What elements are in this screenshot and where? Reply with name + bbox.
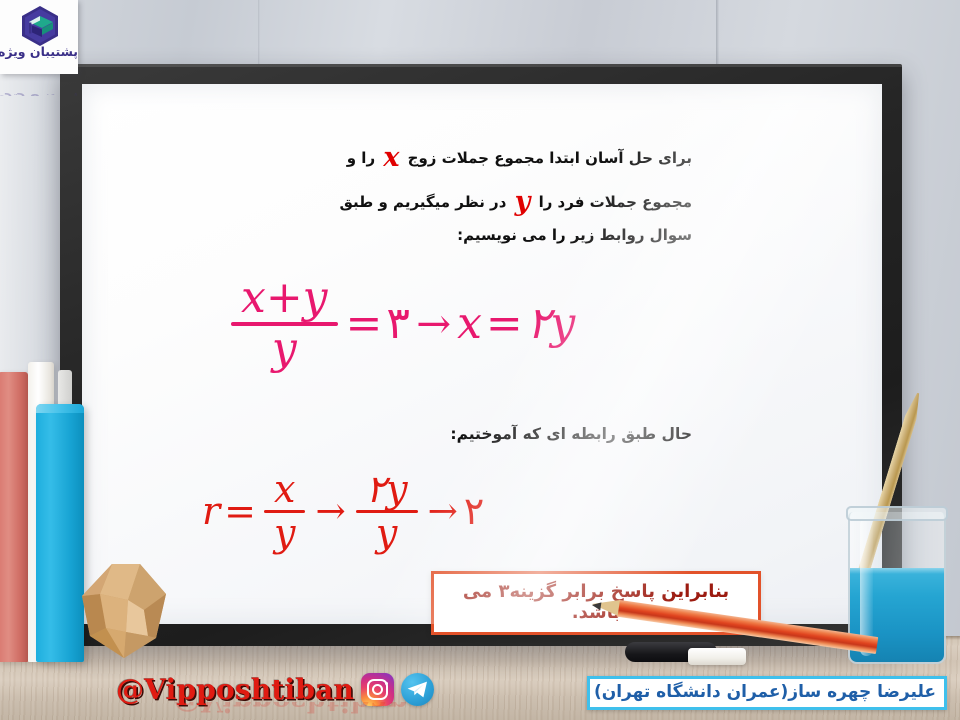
jar-rim <box>846 506 948 521</box>
whiteboard-content: برای حل آسان ابتدا مجموع جملات زوج x را … <box>82 84 882 624</box>
intro-paragraph: برای حل آسان ابتدا مجموع جملات زوج x را … <box>296 136 692 248</box>
equation-two: r = x y → ۲y y → ۲ <box>202 470 484 553</box>
author-name-badge: علیرضا چهره ساز(عمران دانشگاه تهران) <box>587 676 947 710</box>
equation-one-result-rhs: ۲y <box>527 298 576 349</box>
instagram-lens-glyph <box>372 684 383 695</box>
equation-one-equals: = <box>342 298 387 349</box>
equation-two-frac1-denominator: y <box>264 513 305 553</box>
equation-two-arrow-one: → <box>309 490 351 532</box>
instagram-dot-glyph <box>385 682 388 685</box>
second-line-text: حال طبق رابطه ای که آموختیم: <box>412 422 692 447</box>
equation-two-fraction-two: ۲y y <box>356 470 418 553</box>
red-book-spine <box>0 372 28 662</box>
equation-one-fraction: x+y y <box>231 276 338 372</box>
intro-part-1: برای حل آسان ابتدا مجموع جملات زوج <box>408 149 692 167</box>
equation-one: x+y y = ۳ → x = ۲y <box>227 276 575 372</box>
graduation-cap-hexagon-icon <box>20 5 60 47</box>
whiteboard-surface: برای حل آسان ابتدا مجموع جملات زوج x را … <box>82 84 882 624</box>
wooden-polyhedron-ornament <box>78 560 170 660</box>
equation-two-lhs: r <box>202 489 220 533</box>
telegram-paper-plane-glyph <box>407 681 428 698</box>
pencil-lead <box>591 601 601 610</box>
equation-two-arrow-two: → <box>422 490 464 532</box>
equation-two-frac1-numerator: x <box>264 470 305 510</box>
equation-one-numerator: x+y <box>231 276 338 322</box>
brand-logo-reflection: پشتیبان ویژه <box>0 74 78 96</box>
equation-one-value: ۳ <box>386 298 410 349</box>
white-eraser <box>688 648 746 665</box>
brand-logo-reflection-text: پشتیبان ویژه <box>0 93 78 96</box>
equation-two-equals: = <box>220 489 260 533</box>
equation-two-frac2-denominator: y <box>366 513 407 553</box>
intro-variable-y: y <box>512 186 534 217</box>
whiteboard-frame: برای حل آسان ابتدا مجموع جملات زوج x را … <box>60 64 902 646</box>
equation-two-fraction-one: x y <box>264 470 305 553</box>
equation-two-frac2-numerator: ۲y <box>356 470 418 510</box>
equation-one-arrow: → <box>410 299 457 348</box>
brand-logo-text: پشتیبان ویژه <box>0 44 78 59</box>
brand-logo: پشتیبان ویژه <box>0 0 78 74</box>
intro-variable-x: x <box>380 142 402 173</box>
equation-one-denominator: y <box>262 326 307 372</box>
cyan-book-spine <box>36 404 84 662</box>
equation-one-result-lhs: x <box>457 298 482 349</box>
social-handle-reflection: @Vipposhtiban <box>173 702 408 718</box>
equation-two-final-value: ۲ <box>464 489 484 533</box>
equation-one-result-equals: = <box>482 298 527 349</box>
scene-root: برای حل آسان ابتدا مجموع جملات زوج x را … <box>0 0 960 720</box>
